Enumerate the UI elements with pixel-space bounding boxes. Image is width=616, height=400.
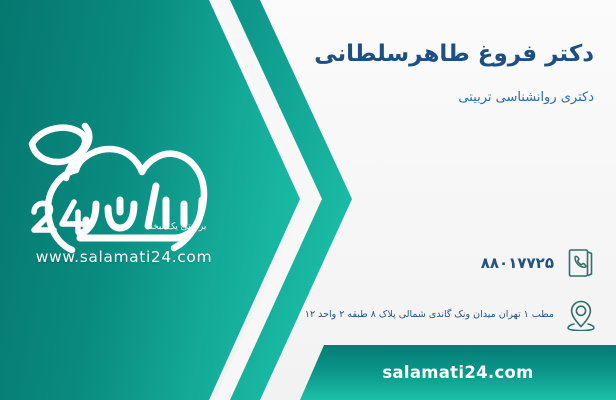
doctor-name: دکتر فروغ طاهرسلطانی [214,40,594,70]
clinic-address: مطب ۱ تهران میدان ونک گاندی شمالی پلاک ۸… [253,308,554,321]
logo-tagline: براحتی یک لبخند [120,222,232,232]
phone-row[interactable]: ۸۸۰۱۷۷۲۵ [253,243,598,283]
logo-url: www.salamati24.com [18,248,230,266]
footer-bar[interactable]: salamati24.com [300,345,616,400]
footer-website: salamati24.com [382,363,533,382]
contact-block: ۸۸۰۱۷۷۲۵ مطب ۱ تهران میدان ونک گاندی شما… [253,243,598,347]
business-card: براحتی یک لبخند www.salamati24.com دکتر … [0,0,616,400]
address-row[interactable]: مطب ۱ تهران میدان ونک گاندی شمالی پلاک ۸… [253,295,598,335]
map-pin-icon [564,295,598,335]
phone-number: ۸۸۰۱۷۷۲۵ [253,254,554,272]
doctor-specialty: دکتری روانشناسی تربیتی [214,88,594,108]
phonebook-icon [564,243,598,283]
